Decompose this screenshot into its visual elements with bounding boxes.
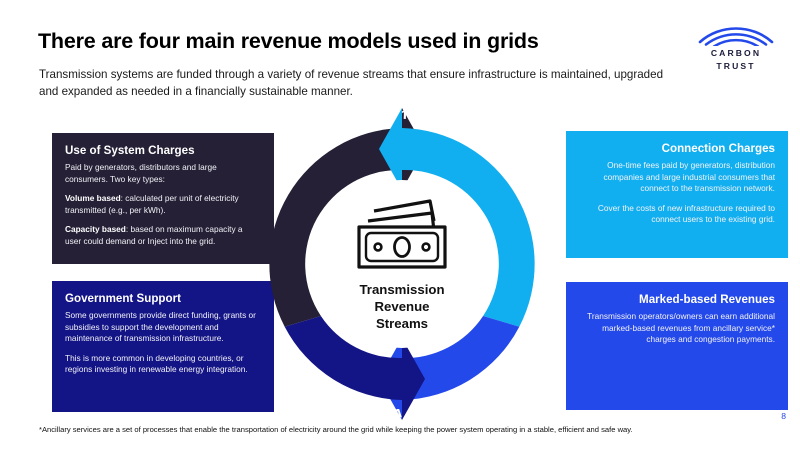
- logo-text-trust: TRUST: [694, 61, 778, 72]
- panel-term: Capacity based: [65, 224, 126, 234]
- panel-term: Volume based: [65, 193, 121, 203]
- cycle-hub: Transmission Revenue Streams: [318, 180, 486, 348]
- page-title: There are four main revenue models used …: [38, 29, 638, 54]
- revenue-cycle-diagram: Use of System Charges Connection Charges…: [196, 104, 608, 424]
- logo-arcs-icon: [694, 22, 778, 46]
- page-subtitle: Transmission systems are funded through …: [39, 67, 679, 100]
- footnote: *Ancillary services are a set of process…: [39, 424, 779, 435]
- page-number: 8: [781, 411, 786, 421]
- panel-heading: Marked-based Revenues: [580, 293, 775, 306]
- slide: There are four main revenue models used …: [0, 0, 800, 450]
- panel-heading: Connection Charges: [580, 142, 775, 155]
- hub-label-line2: Revenue: [375, 299, 430, 314]
- carbon-trust-logo: CARBON TRUST: [694, 22, 778, 68]
- hub-label-line1: Transmission: [359, 282, 444, 297]
- logo-text-carbon: CARBON: [694, 48, 778, 59]
- panel-paragraph: Transmission operators/owners can earn a…: [580, 311, 775, 346]
- panel-paragraph: One-time fees paid by generators, distri…: [580, 160, 775, 195]
- hub-label-line3: Streams: [376, 316, 428, 331]
- panel-paragraph: Cover the costs of new infrastructure re…: [580, 203, 775, 226]
